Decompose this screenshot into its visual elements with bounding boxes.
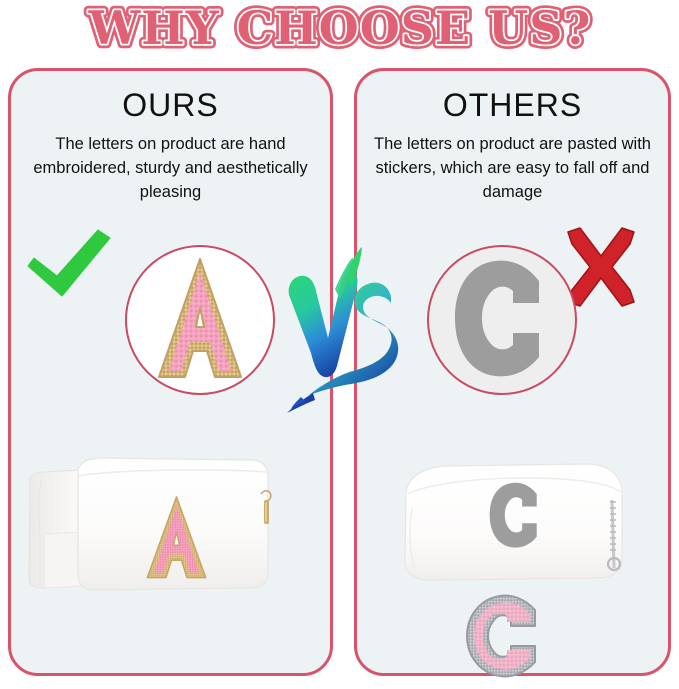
check-icon xyxy=(24,222,114,312)
title-outlined-text: WHY CHOOSE US? WHY CHOOSE US? WHY CHOOSE… xyxy=(30,4,650,56)
panel-others-heading: OTHERS xyxy=(357,87,668,124)
product-bag-others: C xyxy=(396,450,646,590)
page-title: WHY CHOOSE US? WHY CHOOSE US? WHY CHOOSE… xyxy=(0,2,679,58)
panel-ours-body: The letters on product are hand embroide… xyxy=(23,133,318,205)
title-core-text: WHY CHOOSE US? xyxy=(87,1,591,55)
versus-graphic: VS xyxy=(283,245,405,420)
sticker-c-shape xyxy=(455,261,539,377)
patch-closeup-others: C xyxy=(427,245,577,395)
comparison-infographic: WHY CHOOSE US? WHY CHOOSE US? WHY CHOOSE… xyxy=(0,0,679,689)
fallen-patch-c: C xyxy=(455,592,551,680)
product-bag-ours: A xyxy=(22,440,292,600)
panel-others-body: The letters on product are pasted with s… xyxy=(369,133,656,205)
cross-shape xyxy=(568,228,634,306)
bag-ours-pocket xyxy=(44,532,80,588)
panel-ours-heading: OURS xyxy=(11,87,330,124)
versus-v-stroke xyxy=(289,271,358,377)
check-shape xyxy=(28,230,110,296)
patch-closeup-ours: A xyxy=(125,245,275,395)
